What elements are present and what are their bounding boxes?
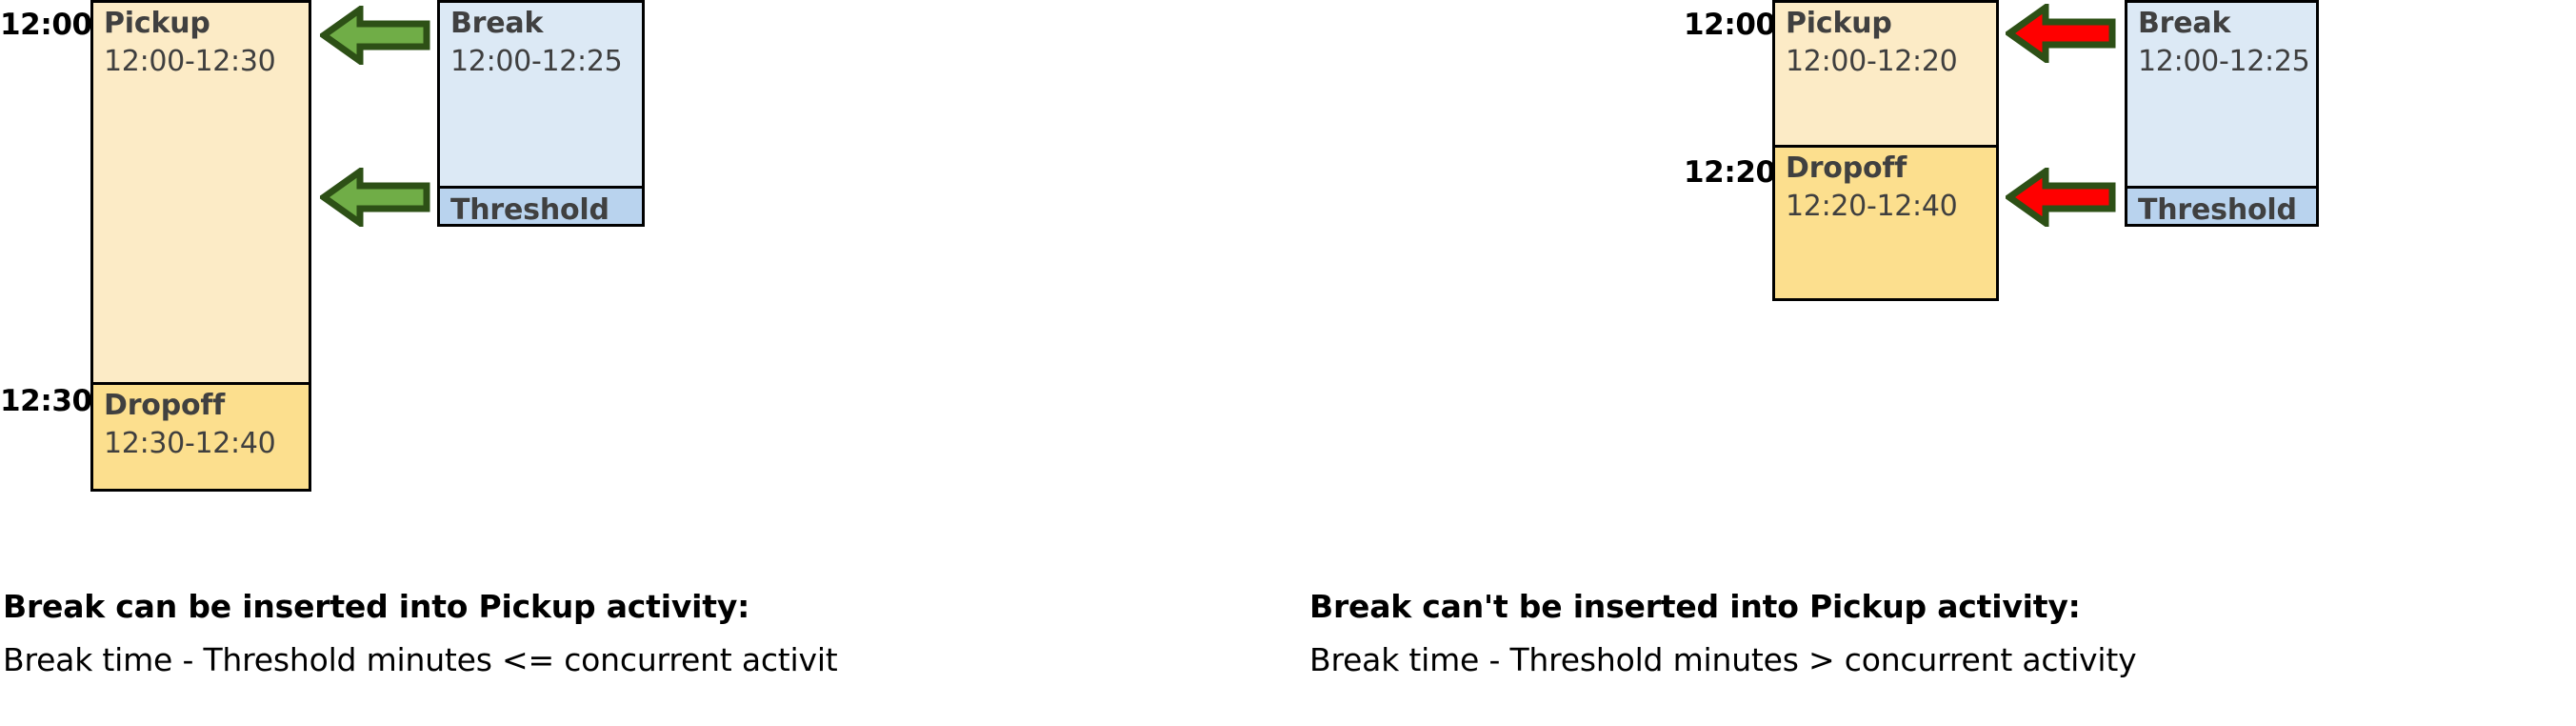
pickup-title-right: Pickup bbox=[1786, 7, 1892, 40]
break-time-right: 12:00-12:25 bbox=[2138, 45, 2309, 78]
arrow-left-bottom-green bbox=[320, 168, 430, 227]
threshold-block-right[interactable]: Threshold bbox=[2125, 186, 2319, 227]
pickup-block-left[interactable]: Pickup 12:00-12:30 bbox=[90, 0, 311, 385]
break-title-left: Break bbox=[450, 7, 543, 40]
left-arrow-green-icon bbox=[320, 168, 430, 227]
arrow-right-top-red bbox=[2006, 4, 2116, 63]
dropoff-time-right: 12:20-12:40 bbox=[1786, 190, 1957, 223]
arrow-right-bottom-red bbox=[2006, 168, 2116, 227]
threshold-block-left[interactable]: Threshold bbox=[437, 186, 645, 227]
pickup-title-left: Pickup bbox=[104, 7, 210, 40]
break-time-left: 12:00-12:25 bbox=[450, 45, 622, 78]
break-title-right: Break bbox=[2138, 7, 2230, 40]
caption-subtext-right: Break time - Threshold minutes > concurr… bbox=[1309, 641, 2136, 678]
caption-subtext-left: Break time - Threshold minutes <= concur… bbox=[3, 641, 838, 678]
caption-heading-left: Break can be inserted into Pickup activi… bbox=[3, 588, 749, 625]
time-label-1220-right: 12:20 bbox=[1684, 155, 1762, 190]
left-scenario-panel: 12:00 12:30 Pickup 12:00-12:30 Dropoff 1… bbox=[0, 0, 1288, 726]
dropoff-time-left: 12:30-12:40 bbox=[104, 427, 275, 460]
pickup-time-right: 12:00-12:20 bbox=[1786, 45, 1957, 78]
left-arrow-green-icon bbox=[320, 6, 430, 65]
arrow-left-top-green bbox=[320, 6, 430, 65]
pickup-time-left: 12:00-12:30 bbox=[104, 45, 275, 78]
right-scenario-panel: 12:00 12:20 Pickup 12:00-12:20 Dropoff 1… bbox=[1288, 0, 2576, 726]
dropoff-title-right: Dropoff bbox=[1786, 151, 1907, 185]
break-block-left[interactable]: Break 12:00-12:25 bbox=[437, 0, 645, 189]
time-label-1200-left: 12:00 bbox=[0, 8, 78, 42]
dropoff-block-left[interactable]: Dropoff 12:30-12:40 bbox=[90, 382, 311, 492]
threshold-title-left: Threshold bbox=[450, 193, 609, 227]
pickup-block-right[interactable]: Pickup 12:00-12:20 bbox=[1772, 0, 1999, 148]
dropoff-title-left: Dropoff bbox=[104, 389, 225, 422]
left-arrow-red-icon bbox=[2006, 4, 2116, 63]
threshold-title-right: Threshold bbox=[2138, 193, 2297, 227]
break-block-right[interactable]: Break 12:00-12:25 bbox=[2125, 0, 2319, 189]
dropoff-block-right[interactable]: Dropoff 12:20-12:40 bbox=[1772, 145, 1999, 301]
time-label-1200-right: 12:00 bbox=[1684, 8, 1762, 42]
left-arrow-red-icon bbox=[2006, 168, 2116, 227]
caption-heading-right: Break can't be inserted into Pickup acti… bbox=[1309, 588, 2081, 625]
time-label-1230-left: 12:30 bbox=[0, 384, 78, 418]
